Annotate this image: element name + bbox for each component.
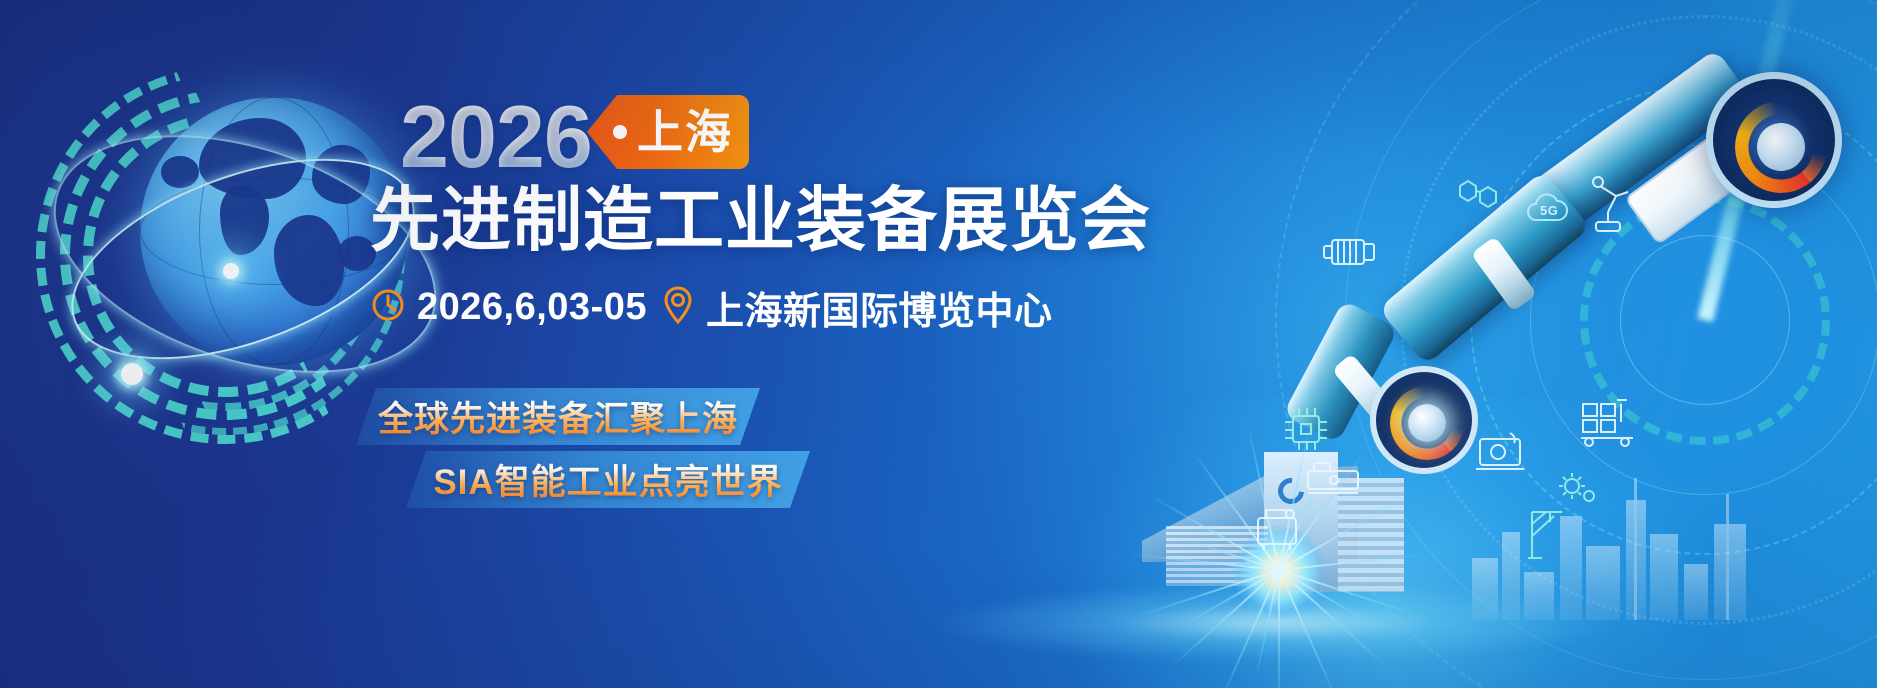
city-badge: 上海 — [587, 95, 749, 169]
conveyor-icon — [1575, 390, 1645, 457]
slogan-text-2: SIA智能工业点亮世界 — [406, 454, 810, 505]
hexagon-molecule-icon — [1450, 172, 1510, 221]
electric-motor-icon — [1320, 230, 1382, 279]
arm-joint-top-icon — [1706, 72, 1842, 208]
event-date-item: 2026,6,03-05 — [370, 286, 647, 329]
location-pin-icon — [661, 285, 695, 330]
welding-spark-icon — [1278, 570, 1282, 574]
clock-icon — [370, 287, 406, 328]
event-meta: 2026,6,03-05 上海新国际博览中心 — [370, 280, 1030, 335]
cloud-5g-icon: 5G — [1520, 190, 1582, 237]
year-badge-row: 2026 上海 — [370, 92, 1030, 178]
city-badge-label: 上海 — [637, 109, 733, 155]
event-venue-item: 上海新国际博览中心 — [661, 280, 1053, 335]
slogan-text-1: 全球先进装备汇聚上海 — [356, 391, 760, 442]
orbit-spark-2 — [223, 263, 239, 279]
slogan-group: 全球先进装备汇聚上海 SIA智能工业点亮世界 — [330, 388, 950, 514]
dot-marker-icon — [613, 125, 627, 139]
page-title: 先进制造工业装备展览会 — [370, 184, 1030, 258]
slogan-banner-2: SIA智能工业点亮世界 — [406, 451, 810, 508]
orbit-spark-1 — [121, 363, 143, 385]
robot-arm-small-icon — [1580, 170, 1648, 245]
exhibition-banner: 5G — [0, 0, 1877, 688]
year-text: 2026 — [400, 86, 592, 188]
cloud-5g-label: 5G — [1540, 203, 1558, 218]
event-venue-text: 上海新国际博览中心 — [706, 280, 1053, 335]
slogan-banner-1: 全球先进装备汇聚上海 — [356, 388, 760, 445]
gripper-icon — [1624, 129, 1754, 245]
banner-text-block: 2026 上海 先进制造工业装备展览会 2026,6,03-05 — [370, 92, 1030, 335]
event-date-text: 2026,6,03-05 — [417, 286, 647, 329]
